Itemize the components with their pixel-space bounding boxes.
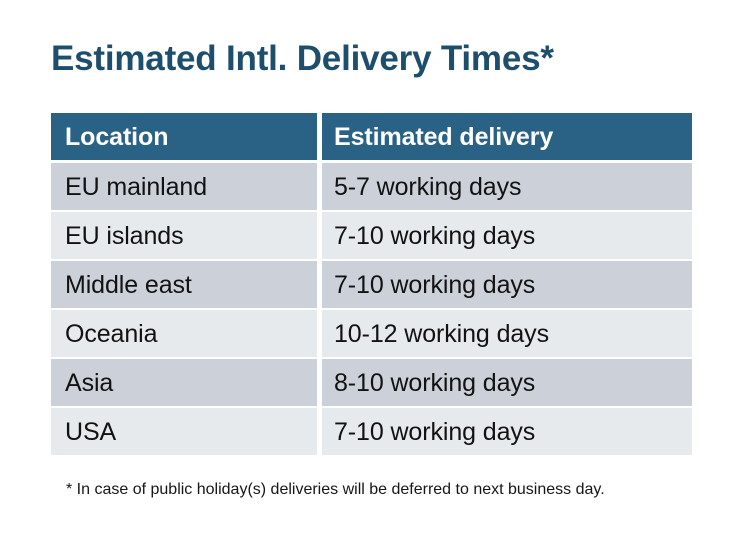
cell-location: Middle east	[51, 261, 317, 308]
cell-delivery: 7-10 working days	[322, 261, 692, 308]
cell-location: Asia	[51, 359, 317, 406]
cell-delivery: 10-12 working days	[322, 310, 692, 357]
cell-location: USA	[51, 408, 317, 455]
delivery-times-table: Location Estimated delivery EU mainland …	[51, 113, 692, 457]
table-row: EU islands 7-10 working days	[51, 212, 692, 259]
table-row: Oceania 10-12 working days	[51, 310, 692, 357]
cell-location: EU mainland	[51, 163, 317, 210]
table-row: Asia 8-10 working days	[51, 359, 692, 406]
cell-delivery: 8-10 working days	[322, 359, 692, 406]
cell-delivery: 7-10 working days	[322, 212, 692, 259]
table-row: EU mainland 5-7 working days	[51, 163, 692, 210]
table-header-row: Location Estimated delivery	[51, 113, 692, 160]
cell-location: Oceania	[51, 310, 317, 357]
column-header-location: Location	[51, 113, 317, 160]
cell-delivery: 7-10 working days	[322, 408, 692, 455]
cell-location: EU islands	[51, 212, 317, 259]
page-title: Estimated Intl. Delivery Times*	[51, 38, 554, 80]
footnote-text: * In case of public holiday(s) deliverie…	[66, 479, 605, 501]
column-header-estimated-delivery: Estimated delivery	[322, 113, 692, 160]
table-row: USA 7-10 working days	[51, 408, 692, 455]
delivery-times-panel: Estimated Intl. Delivery Times* Location…	[0, 0, 745, 536]
cell-delivery: 5-7 working days	[322, 163, 692, 210]
table-row: Middle east 7-10 working days	[51, 261, 692, 308]
